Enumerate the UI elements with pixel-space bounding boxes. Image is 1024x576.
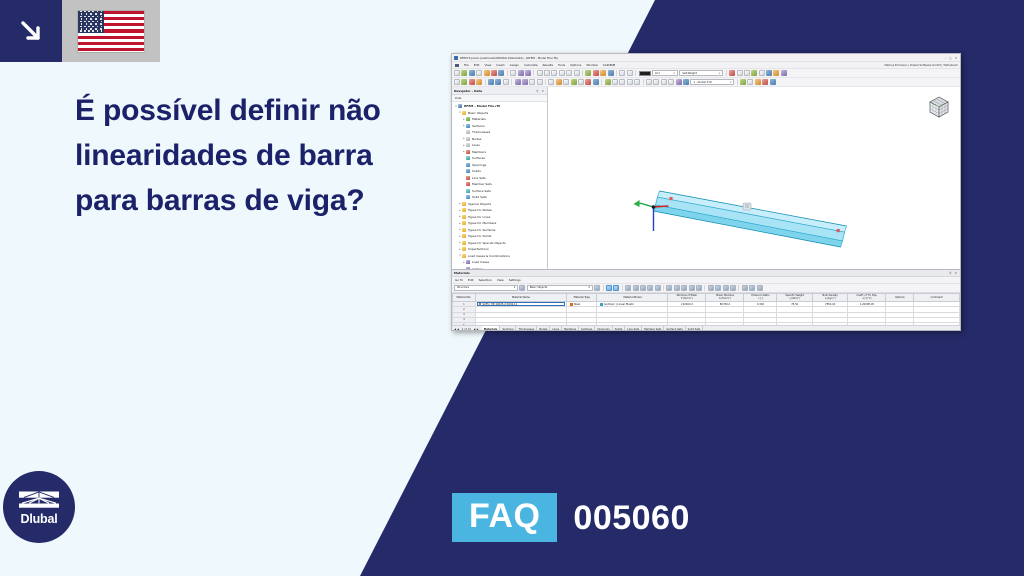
tree-item-label: Types for Special Objects — [468, 241, 506, 245]
print-icon[interactable] — [476, 70, 482, 76]
visibility-icon[interactable] — [740, 79, 746, 85]
grid-tab-materials[interactable]: Materials — [482, 326, 501, 331]
view-side-icon[interactable] — [661, 79, 667, 85]
col-material-type: Material Type — [567, 293, 597, 302]
tree-item-label: Nodes — [472, 137, 481, 141]
section-icon[interactable] — [563, 79, 569, 85]
import-icon[interactable] — [708, 285, 714, 291]
navigator-tabs: Data — [452, 95, 547, 102]
open-icon[interactable] — [461, 70, 467, 76]
member-eccentricity-icon[interactable] — [585, 79, 591, 85]
tree-item-label: Materials — [472, 117, 486, 121]
folder-node-icon — [462, 215, 466, 219]
menu-options[interactable]: Options — [570, 63, 581, 67]
tree-item-label: Surface Sets — [472, 189, 491, 193]
results-icon[interactable] — [612, 79, 618, 85]
slide-canvas: É possível definir não linearidades de b… — [0, 0, 1024, 576]
structure-filter-icon[interactable] — [519, 285, 525, 291]
deformation-icon[interactable] — [759, 70, 765, 76]
materials-panel-title: Materials — [454, 271, 470, 275]
material-name-value: S235 | EN 10025-2:2004-11 — [482, 303, 517, 306]
isolate-icon[interactable] — [755, 79, 761, 85]
copy-icon[interactable] — [498, 70, 504, 76]
new-row-icon[interactable] — [613, 285, 619, 291]
grid-tab-line-sets[interactable]: Line Sets — [625, 326, 642, 331]
new-icon[interactable] — [454, 70, 460, 76]
usa-flag-icon — [78, 11, 144, 52]
app-menu-icon[interactable] — [455, 64, 459, 67]
pin-icon[interactable]: ⚲ — [536, 89, 539, 93]
tree-item-label: Thicknesses — [472, 130, 490, 134]
show-columns-icon[interactable] — [640, 285, 646, 291]
purple-node-icon — [466, 267, 470, 269]
folder-node-icon — [462, 111, 466, 115]
material-type-color — [570, 303, 573, 306]
material-library-icon[interactable] — [723, 285, 729, 291]
tree-item-label: Types for Nodes — [468, 208, 492, 212]
tree-item-label: RFEM - Model File.rf6 — [464, 104, 500, 108]
close-button[interactable]: ✕ — [955, 56, 957, 60]
minimize-button[interactable]: – — [945, 56, 946, 60]
objects-select[interactable]: Basic Objects ▾ — [527, 285, 593, 291]
app-title: RFEM 6 [work-postmodel\005060-1\Model01]… — [460, 56, 558, 60]
material-model-value: Isotropic | Linear Elastic — [604, 303, 634, 306]
col-specific-weight: Specific Weightγ [kN/m³] — [777, 293, 812, 302]
refresh-icon[interactable] — [742, 285, 748, 291]
tree-item-label: Types for Solids — [468, 234, 491, 238]
coordinate-system-icon[interactable] — [683, 79, 689, 85]
materials-grid-wrap[interactable]: Material No. Material Name Material Type… — [452, 293, 960, 326]
navigator-tree[interactable]: ▾RFEM - Model File.rf6▾Basic Objects▸Mat… — [452, 102, 547, 269]
rfem-application-screenshot: RFEM 6 [work-postmodel\005060-1\Model01]… — [451, 53, 961, 331]
grid-tab-lines[interactable]: Lines — [550, 326, 562, 331]
chevron-down-icon: ▾ — [719, 72, 720, 75]
flag-container — [62, 0, 160, 62]
menu-view[interactable]: View — [497, 278, 504, 282]
menu-cadbim[interactable]: CAD/BIM — [603, 63, 616, 67]
main-toolbar-row2: 1 - Global XYZ ▾ — [452, 78, 960, 87]
filter-icon[interactable] — [634, 79, 640, 85]
folder-node-icon — [462, 228, 466, 232]
support-icon[interactable] — [503, 79, 509, 85]
menu-calculate[interactable]: Calculate — [524, 63, 538, 67]
folder-node-icon — [462, 234, 466, 238]
member-nonlinearity-icon[interactable] — [578, 79, 584, 85]
close-icon[interactable]: ✕ — [954, 271, 958, 275]
page-title: É possível definir não linearidades de b… — [75, 88, 435, 223]
col-thermal-expansion: Coeff. of Th. Exp.α [1/°C] — [848, 293, 886, 302]
folder-node-icon — [462, 241, 466, 245]
view-iso-icon[interactable] — [668, 79, 674, 85]
imperfection-icon[interactable] — [556, 79, 562, 85]
settings-icon[interactable] — [757, 285, 763, 291]
freeze-columns-icon[interactable] — [647, 285, 653, 291]
material-edit-icon[interactable] — [730, 285, 736, 291]
grey-node-icon — [466, 143, 470, 147]
export-icon[interactable] — [715, 285, 721, 291]
grid-tab-solids[interactable]: Solids — [613, 326, 626, 331]
col-material-model: Material Model — [597, 293, 668, 302]
navigator-header: Navigator - Data ⚲ ✕ — [452, 87, 547, 95]
navigator-title: Navigator - Data — [454, 89, 482, 93]
stress-icon[interactable] — [773, 70, 779, 76]
hide-icon[interactable] — [762, 79, 768, 85]
info-icon[interactable] — [770, 79, 776, 85]
col-poissons-ratio: Poisson's Ratioν [-] — [744, 293, 777, 302]
folder-node-icon — [462, 254, 466, 258]
node-icon[interactable] — [454, 79, 460, 85]
workplane-icon[interactable] — [676, 79, 682, 85]
mesh-icon[interactable] — [751, 70, 757, 76]
surface-icon[interactable] — [476, 79, 482, 85]
thickness-icon[interactable] — [571, 79, 577, 85]
col-material-no: Material No. — [453, 293, 476, 302]
objects-filter-icon[interactable] — [594, 285, 600, 291]
grid-tab-members[interactable]: Members — [562, 326, 579, 331]
solid-icon[interactable] — [488, 79, 494, 85]
tree-item-label: Types for Members — [468, 221, 496, 225]
units-icon[interactable] — [655, 285, 661, 291]
move-up-icon[interactable] — [681, 285, 687, 291]
insert-row-icon[interactable] — [674, 285, 680, 291]
navigator-panel: Navigator - Data ⚲ ✕ Data ▾RFEM - Model … — [452, 87, 548, 269]
purple-node-icon — [466, 260, 470, 264]
menu-view[interactable]: View — [484, 63, 491, 67]
member-load-icon[interactable] — [529, 79, 535, 85]
grid-tab-solid-sets[interactable]: Solid Sets — [686, 326, 704, 331]
close-icon[interactable]: ✕ — [541, 89, 545, 93]
col-shear-modulus: Shear ModulusG [N/mm²] — [706, 293, 744, 302]
maximize-button[interactable]: □ — [949, 56, 952, 60]
grid-tab-thicknesses[interactable]: Thicknesses — [516, 326, 537, 331]
grid-tab-openings[interactable]: Openings — [595, 326, 612, 331]
tree-item-label: Imperfections — [468, 247, 489, 251]
material-type-value: Steel — [574, 303, 580, 306]
app-menubar: File Edit View Insert Assign Calculate R… — [452, 62, 960, 69]
printout-icon[interactable] — [781, 70, 787, 76]
zoom-out-icon[interactable] — [593, 70, 599, 76]
main-toolbar-row1: LC1 ▾ Self-Weight ▾ — [452, 69, 960, 78]
copy-row-icon[interactable] — [696, 285, 702, 291]
menu-file[interactable]: File — [464, 63, 469, 67]
tree-item-label: Basic Objects — [468, 111, 488, 115]
folder-node-icon — [462, 247, 466, 251]
save-icon[interactable] — [469, 70, 475, 76]
column-width-icon[interactable] — [633, 285, 639, 291]
tree-item-label: Sections — [472, 124, 485, 128]
app-body: Navigator - Data ⚲ ✕ Data ▾RFEM - Model … — [452, 87, 960, 269]
free-load-icon[interactable] — [548, 79, 554, 85]
tree-item-label: Lines — [472, 143, 480, 147]
folder-node-icon — [462, 221, 466, 225]
dlubal-wordmark: Dlubal — [21, 513, 58, 526]
edit-cell-icon[interactable] — [606, 285, 612, 291]
zoom-window-icon[interactable] — [600, 70, 606, 76]
chevron-down-icon: ▾ — [674, 72, 675, 75]
view-cube-widget[interactable] — [926, 94, 952, 120]
material-model-color — [600, 303, 603, 306]
result-diagram-icon[interactable] — [619, 79, 625, 85]
view-front-icon[interactable] — [646, 79, 652, 85]
color-swatch[interactable] — [639, 71, 651, 76]
col-bulk-density: Bulk Densityρ [kg/m³] — [812, 293, 847, 302]
internal-forces-icon[interactable] — [766, 70, 772, 76]
col-modulus-elasticity: Modulus of Elast.E [N/mm²] — [668, 293, 706, 302]
grid-tab-nodes[interactable]: Nodes — [537, 326, 550, 331]
blue-node-icon — [466, 169, 470, 173]
faq-chip: FAQ — [452, 493, 557, 542]
folder-node-icon — [462, 202, 466, 206]
grey-node-icon — [466, 137, 470, 141]
arrow-down-right-icon — [17, 17, 45, 45]
view-top-icon[interactable] — [653, 79, 659, 85]
col-comment: Comment — [914, 293, 960, 302]
faq-footer: FAQ 005060 — [452, 493, 690, 542]
root-node-icon — [458, 104, 462, 108]
nodal-load-icon[interactable] — [515, 79, 521, 85]
tree-item[interactable]: Actions — [452, 266, 547, 270]
tree-item-label: Member Sets — [472, 182, 492, 186]
undo-icon[interactable] — [518, 70, 524, 76]
line-load-icon[interactable] — [522, 79, 528, 85]
menu-assign[interactable]: Assign — [510, 63, 519, 67]
materials-panel-toolbar: Structure ▾ Basic Objects ▾ — [452, 284, 960, 293]
print-preview-icon[interactable] — [484, 70, 490, 76]
menu-insert[interactable]: Insert — [496, 63, 504, 67]
surface-load-icon[interactable] — [537, 79, 543, 85]
result-table-icon[interactable] — [627, 79, 633, 85]
blue-node-icon — [466, 195, 470, 199]
grid-tab-surfaces[interactable]: Surfaces — [579, 326, 595, 331]
red-node-icon — [466, 150, 470, 154]
tree-item-label: Line Sets — [472, 176, 486, 180]
object-snap-icon[interactable] — [559, 70, 565, 76]
teal-node-icon — [466, 156, 470, 160]
line-icon[interactable] — [461, 79, 467, 85]
load-case-number-select[interactable]: LC1 ▾ — [652, 70, 678, 76]
tree-item-label: Special Objects — [468, 202, 491, 206]
col-options: Options — [886, 293, 914, 302]
tree-item-label: Types for Lines — [468, 215, 490, 219]
tree-item-label: Openings — [472, 163, 486, 167]
redo-icon[interactable] — [525, 70, 531, 76]
menu-window[interactable]: Window — [586, 63, 597, 67]
materials-panel: Materials ⚲ ✕ Go To Edit Selection View … — [452, 269, 960, 331]
red-node-icon — [466, 176, 470, 180]
menu-results[interactable]: Results — [543, 63, 553, 67]
snap-icon[interactable] — [544, 70, 550, 76]
member-divide-icon[interactable] — [593, 79, 599, 85]
grid-tab-surface-sets[interactable]: Surface Sets — [664, 326, 685, 331]
tree-item-label: Solids — [472, 169, 481, 173]
grid-paging-info: 1 of 13 — [462, 328, 471, 331]
green-node-icon — [466, 117, 470, 121]
dlubal-bridge-icon — [17, 489, 61, 511]
arrow-badge — [0, 0, 62, 62]
materials-panel-header: Materials ⚲ ✕ — [452, 270, 960, 277]
opening-icon[interactable] — [495, 79, 501, 85]
app-titlebar: RFEM 6 [work-postmodel\005060-1\Model01]… — [452, 54, 960, 62]
move-down-icon[interactable] — [689, 285, 695, 291]
delete-row-icon[interactable] — [666, 285, 672, 291]
tree-item-label: Solid Sets — [472, 195, 487, 199]
print-table-icon[interactable] — [749, 285, 755, 291]
chevron-down-icon: ▾ — [588, 286, 589, 289]
dlubal-logo: Dlubal — [3, 471, 75, 543]
measure-icon[interactable] — [619, 70, 625, 76]
navigator-tab-data[interactable]: Data — [455, 96, 461, 100]
nodal-support-icon[interactable] — [729, 70, 735, 76]
materials-table: Material No. Material Name Material Type… — [452, 293, 960, 326]
pin-icon[interactable]: ⚲ — [949, 271, 952, 275]
zoom-in-icon[interactable] — [585, 70, 591, 76]
menu-goto[interactable]: Go To — [455, 278, 463, 282]
folder-node-icon — [462, 208, 466, 212]
dimension-icon[interactable] — [627, 70, 633, 76]
menu-settings[interactable]: Settings — [509, 278, 521, 282]
materials-table-header-row: Material No. Material Name Material Type… — [453, 293, 960, 302]
ortho-icon[interactable] — [551, 70, 557, 76]
material-checkbox[interactable] — [479, 303, 482, 306]
tree-item-label: Actions — [472, 267, 483, 269]
calculate-icon[interactable] — [605, 79, 611, 85]
menu-tools[interactable]: Tools — [558, 63, 565, 67]
render-icon[interactable] — [574, 70, 580, 76]
menu-edit[interactable]: Edit — [468, 278, 474, 282]
materials-grid-tabs: ◀ ◀1 of 13▶ ▶MaterialsSectionsThicknesse… — [452, 325, 960, 331]
grid-paging-buttons[interactable]: ◀ ◀ — [454, 328, 459, 331]
faq-number: 005060 — [573, 501, 689, 535]
menu-edit[interactable]: Edit — [474, 63, 480, 67]
coordinate-system-select[interactable]: 1 - Global XYZ ▾ — [690, 79, 734, 85]
member-hinge-icon[interactable] — [737, 70, 743, 76]
grid-tab-sections[interactable]: Sections — [500, 326, 516, 331]
table-view-icon[interactable] — [625, 285, 631, 291]
chevron-down-icon: ▾ — [730, 81, 731, 84]
grid-tab-member-sets[interactable]: Member Sets — [642, 326, 664, 331]
layer-icon[interactable] — [566, 70, 572, 76]
blue-node-icon — [466, 124, 470, 128]
teal-node-icon — [466, 189, 470, 193]
col-material-name: Material Name — [475, 293, 566, 302]
app-icon — [454, 56, 458, 60]
cut-icon[interactable] — [491, 70, 497, 76]
paste-icon[interactable] — [510, 70, 516, 76]
tree-item-label: Load Cases — [472, 260, 489, 264]
user-account-label: Markus Eckmann | Dlubal Software GmbH | … — [884, 63, 960, 67]
model-viewport[interactable] — [548, 87, 960, 269]
blue-node-icon — [466, 163, 470, 167]
group-icon[interactable] — [747, 79, 753, 85]
grid-icon[interactable] — [537, 70, 543, 76]
red-node-icon — [466, 182, 470, 186]
structure-select[interactable]: Structure ▾ — [454, 285, 518, 291]
grey-node-icon — [466, 130, 470, 134]
grid-paging-buttons-next[interactable]: ▶ ▶ — [474, 328, 479, 331]
menu-selection[interactable]: Selection — [479, 278, 492, 282]
load-case-select[interactable]: Self-Weight ▾ — [679, 70, 723, 76]
line-hinge-icon[interactable] — [744, 70, 750, 76]
tree-item-label: Load Cases & Combinations — [468, 254, 510, 258]
tree-item-label: Members — [472, 150, 486, 154]
tree-item-label: Surfaces — [472, 156, 485, 160]
member-icon[interactable] — [469, 79, 475, 85]
chevron-down-icon: ▾ — [514, 286, 515, 289]
zoom-all-icon[interactable] — [608, 70, 614, 76]
tree-item-label: Types for Surfaces — [468, 228, 495, 232]
